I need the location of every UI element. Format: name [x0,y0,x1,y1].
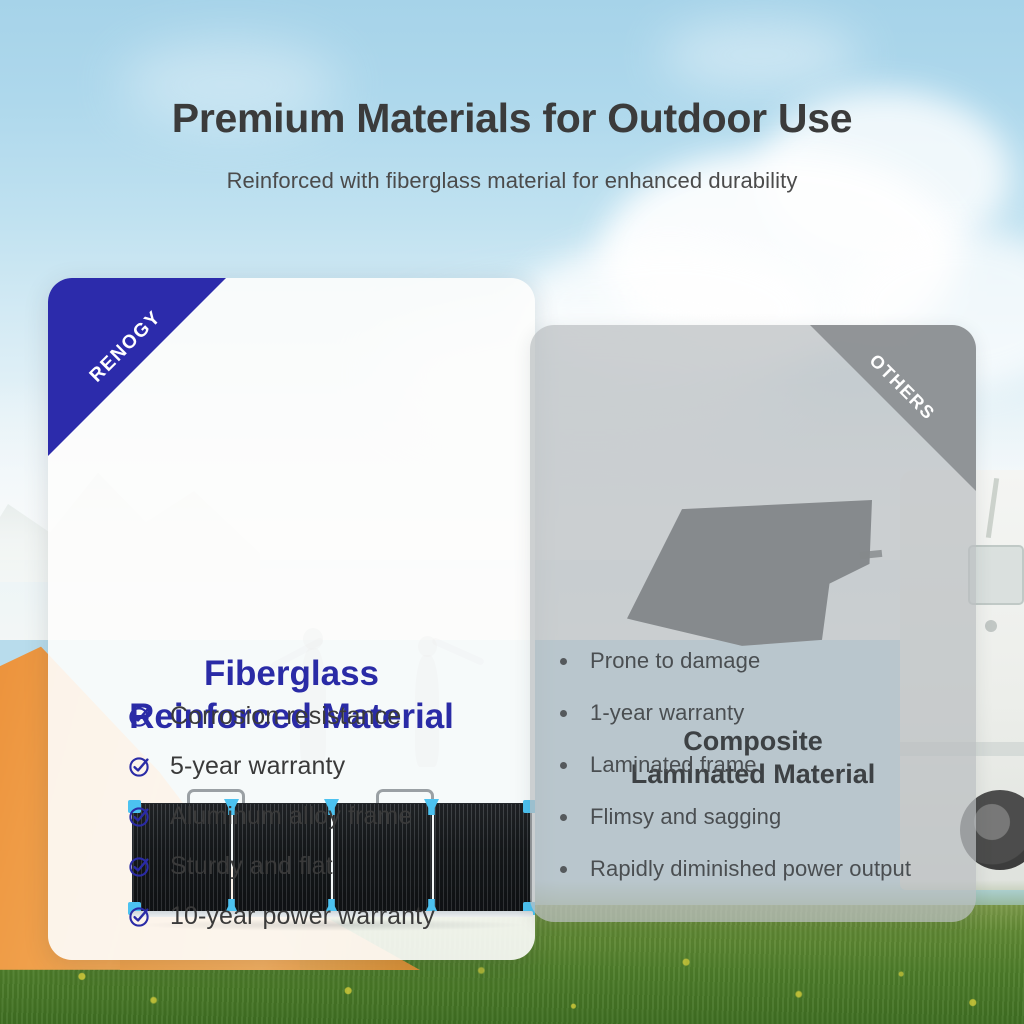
check-circle-icon [128,854,152,878]
list-item: Flimsy and sagging [560,804,960,830]
list-item: 1-year warranty [560,700,960,726]
list-item-label: Flimsy and sagging [590,804,781,830]
others-corner-ribbon: OTHERS [810,325,976,491]
list-item-label: Rapidly diminished power output [590,856,911,882]
rv-window [968,545,1024,605]
list-item-label: Sturdy and flat [170,852,333,881]
list-item-label: 10-year power warranty [170,902,435,931]
cloud [660,20,860,90]
page-subtitle: Reinforced with fiberglass material for … [0,168,1024,194]
others-drawback-list: Prone to damage 1-year warranty Laminate… [560,648,960,908]
bullet-dot-icon [560,658,567,665]
list-item: Aluminum alloy frame [128,800,528,832]
bullet-dot-icon [560,762,567,769]
list-item: Rapidly diminished power output [560,856,960,882]
check-circle-icon [128,804,152,828]
page-title: Premium Materials for Outdoor Use [0,95,1024,142]
bullet-dot-icon [560,814,567,821]
list-item-label: 1-year warranty [590,700,744,726]
list-item: Corrosion resistance [128,700,528,732]
list-item: 5-year warranty [128,750,528,782]
renogy-corner-ribbon: RENOGY [48,278,226,456]
list-item-label: Aluminum alloy frame [170,802,412,831]
check-circle-icon [128,904,152,928]
list-item: Sturdy and flat [128,850,528,882]
renogy-ribbon-label: RENOGY [62,283,191,412]
bullet-dot-icon [560,710,567,717]
renogy-title-line-1: Fiberglass [48,653,535,696]
list-item: 10-year power warranty [128,900,528,932]
check-circle-icon [128,704,152,728]
check-circle-icon [128,754,152,778]
others-ribbon-label: OTHERS [839,325,964,450]
renogy-benefit-list: Corrosion resistance 5-year warranty Alu… [128,700,528,950]
sagging-laminated-panel-image [622,500,872,652]
list-item: Laminated frame [560,752,960,778]
list-item-label: Laminated frame [590,752,757,778]
list-item-label: Corrosion resistance [170,702,401,731]
rv-knob [985,620,997,632]
bullet-dot-icon [560,866,567,873]
list-item: Prone to damage [560,648,960,674]
panel-edge-detail [860,550,883,559]
list-item-label: Prone to damage [590,648,760,674]
list-item-label: 5-year warranty [170,752,345,781]
